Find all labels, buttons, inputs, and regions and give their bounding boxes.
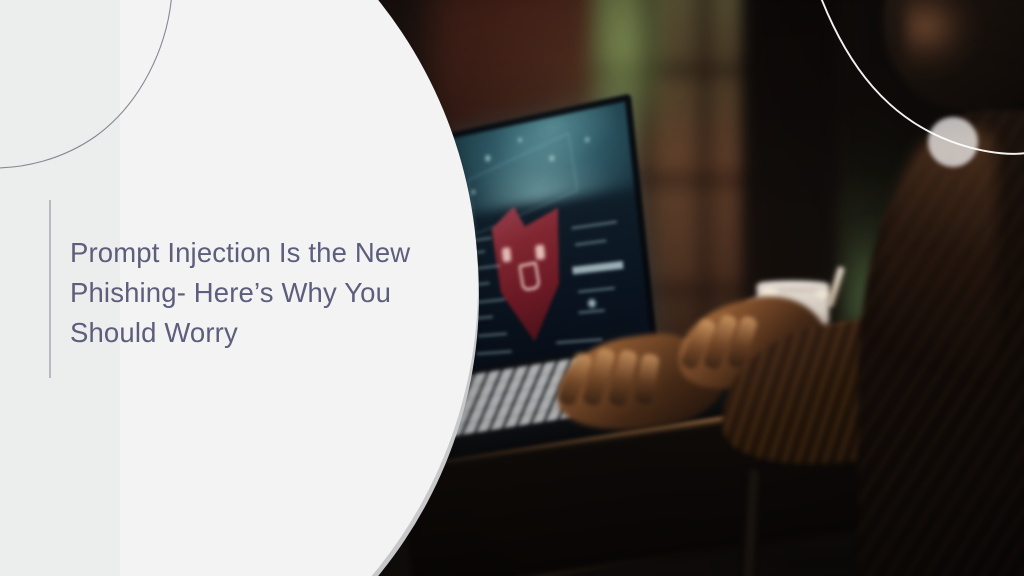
page-title: Prompt Injection Is the New Phishing- He…	[70, 233, 430, 353]
accent-rule	[49, 200, 51, 378]
slide-root: Prompt Injection Is the New Phishing- He…	[0, 0, 1024, 576]
person-face-light	[904, 0, 978, 74]
soft-white-circle-icon	[928, 117, 978, 167]
